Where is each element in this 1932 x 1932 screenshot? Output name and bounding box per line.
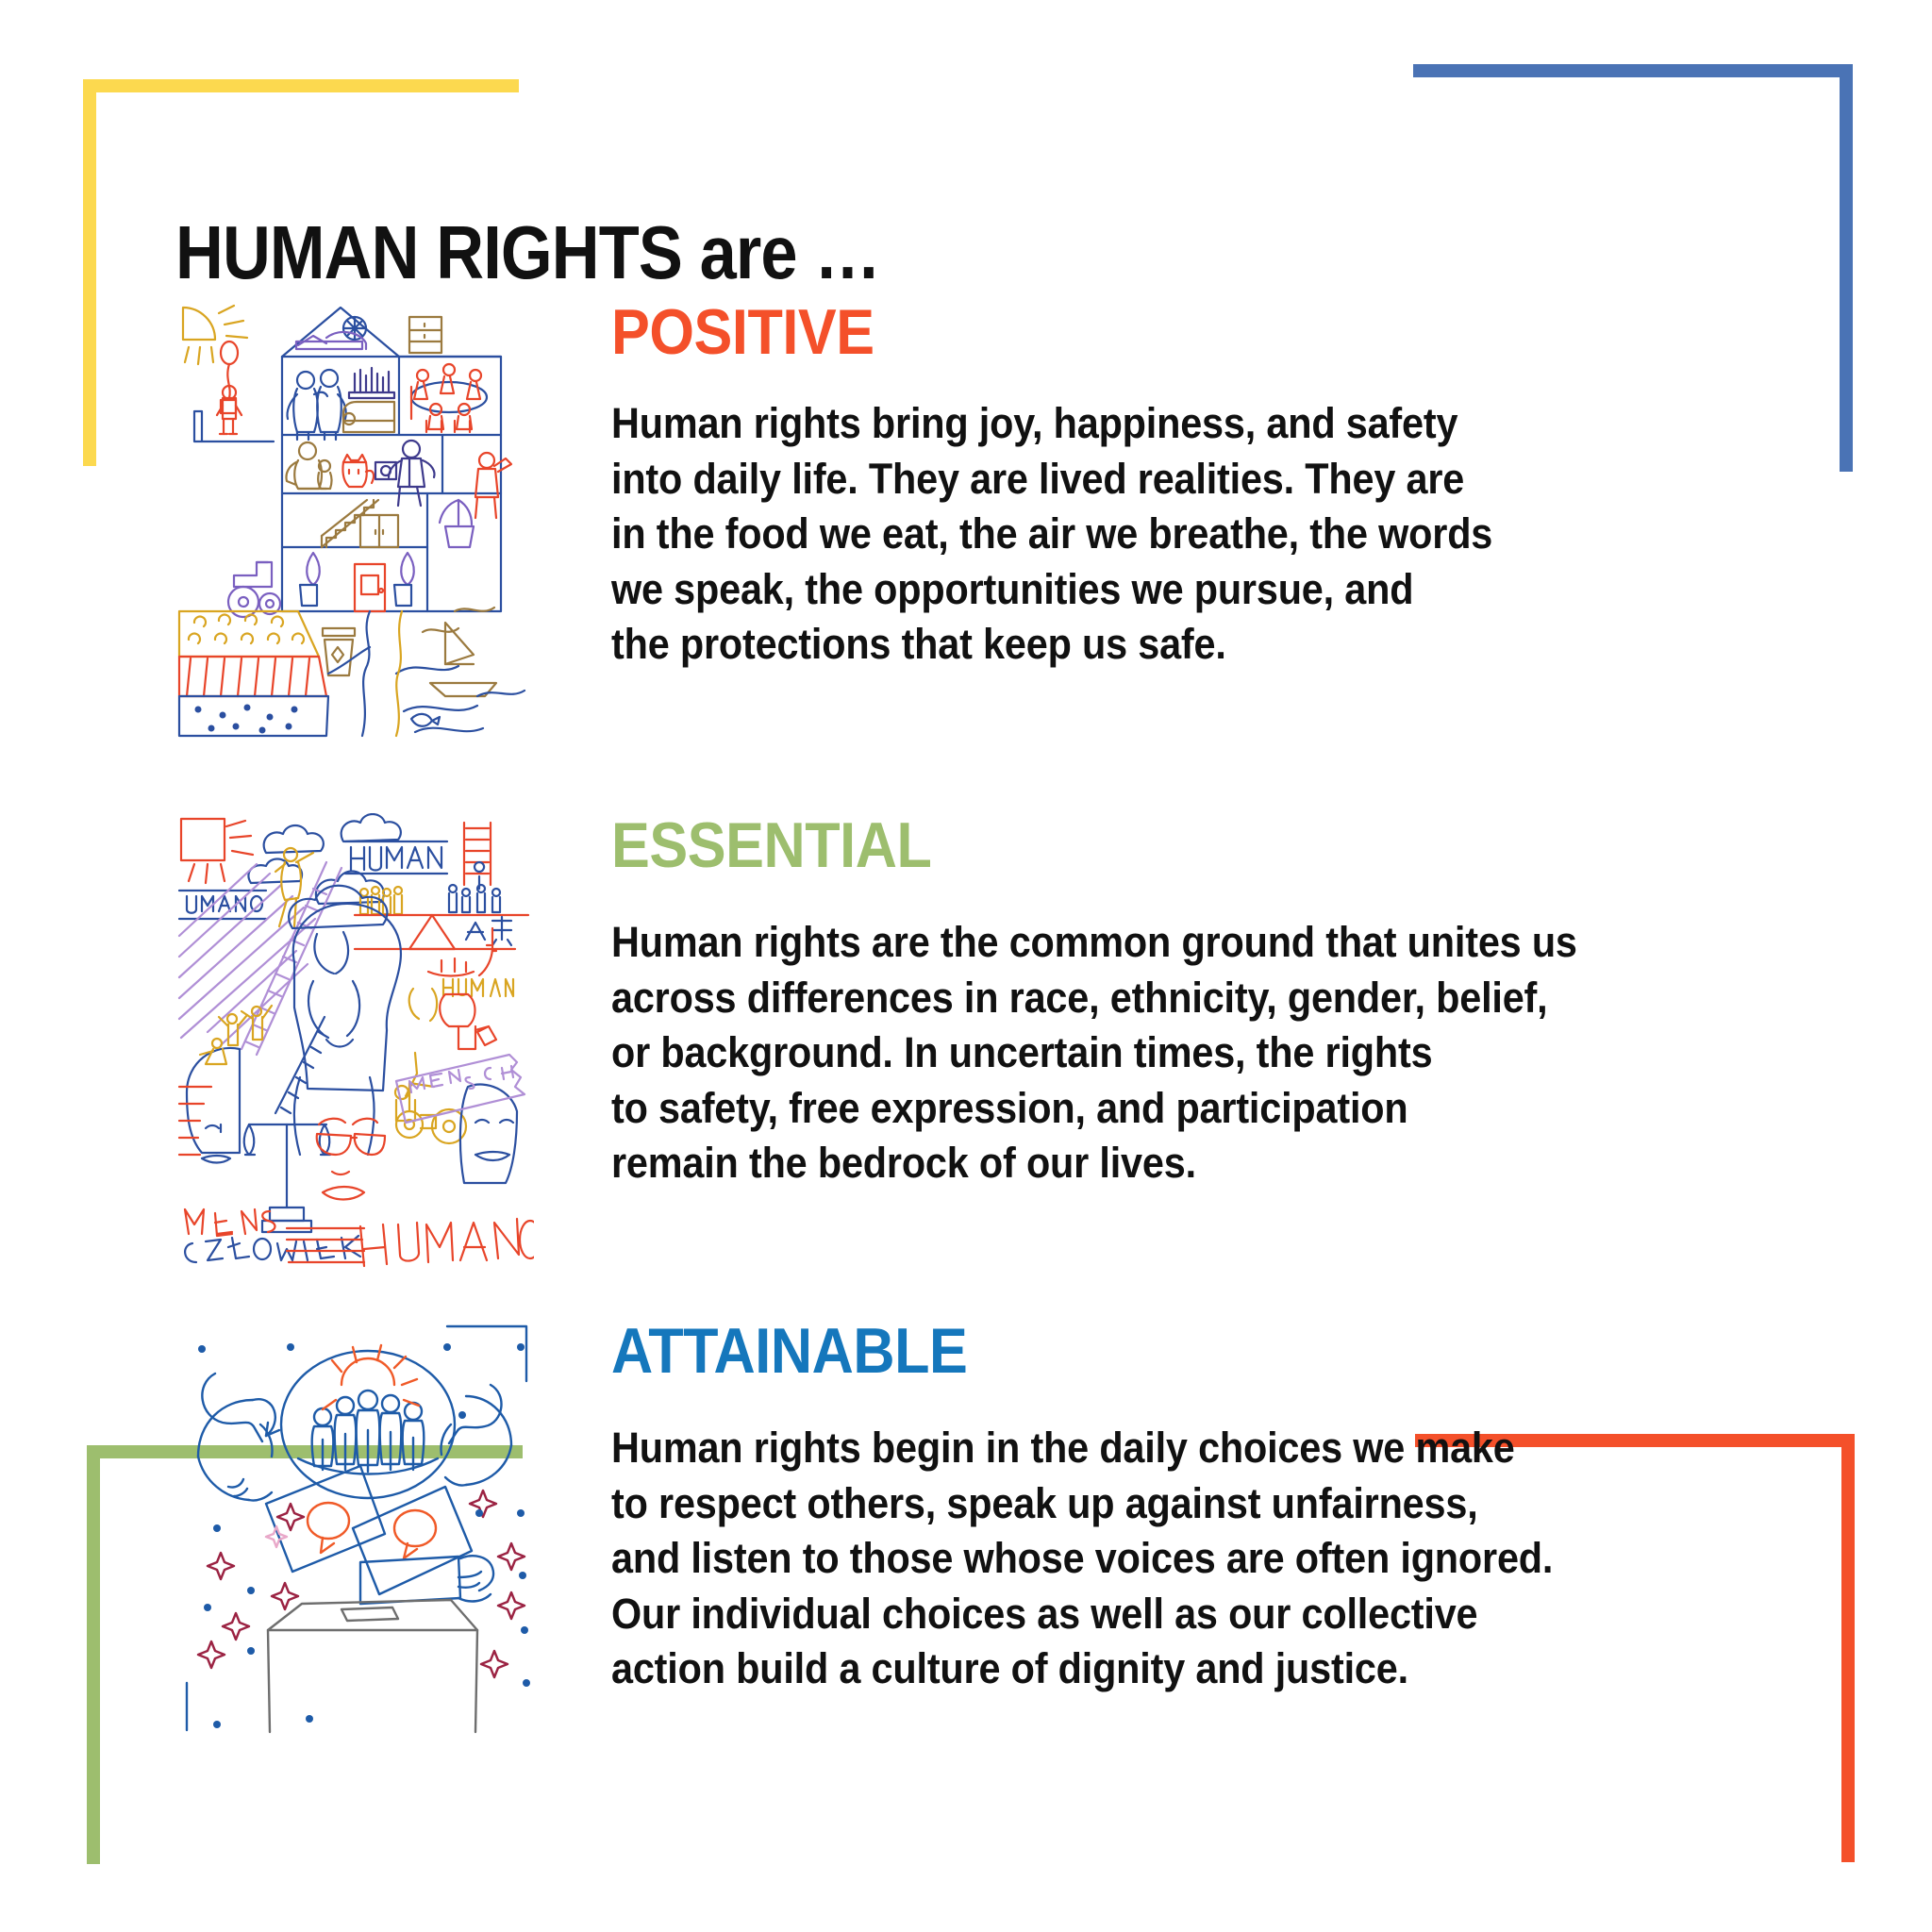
word-humain [464,823,491,885]
word-arabic [428,928,496,976]
ballot-box [268,1600,477,1732]
positive-text-column: POSITIVE Human rights bring joy, happine… [611,300,1790,673]
speech-bubble-right [394,1510,436,1558]
word-chinese [466,917,511,945]
globe-with-crowd [281,1351,455,1498]
sofa [343,402,394,432]
bookshelf [349,368,394,398]
section-body-essential: Human rights are the common ground that … [611,915,1696,1191]
essential-text-column: ESSENTIAL Human rights are the common gr… [611,813,1790,1191]
ballot-box-illustration [175,1319,534,1734]
figure-with-cup [440,994,496,1049]
section-heading-attainable: ATTAINABLE [611,1319,1673,1383]
page-title: HUMAN RIGHTS are … [175,209,880,296]
section-body-positive: Human rights bring joy, happiness, and s… [611,396,1696,673]
section-heading-essential: ESSENTIAL [611,813,1673,877]
celebrating-figures [200,1006,272,1064]
front-door [355,564,385,611]
bracket-arm-horizontal [1413,64,1853,77]
cat-icon [342,455,374,487]
hand-left [198,1374,273,1501]
child-with-balloon [217,341,241,434]
elderly-with-child [286,442,331,489]
hand-inserting [458,1556,493,1601]
word-humano-big [360,1219,534,1266]
couple-figures [287,370,345,440]
meeting-table-group [411,364,487,432]
bracket-arm-vertical [1841,1447,1855,1862]
person-with-briefcase [375,441,435,506]
face-right [460,1085,517,1183]
word-human [345,841,447,874]
bracket-arm-vertical [83,79,96,466]
seed-field [179,696,328,736]
crop-field [179,611,319,657]
speech-bubble-left [308,1503,349,1553]
staircase [322,500,378,547]
tractor-icon [228,562,280,617]
house-outline [282,308,501,611]
sailboat-icon [423,608,496,696]
water-waves [396,666,525,732]
sparkle-icon-pink [266,1526,287,1547]
plowed-field [179,657,326,696]
face-left [187,1048,240,1163]
hand-right [441,1385,511,1486]
section-heading-positive: POSITIVE [611,300,1673,364]
crowd-figures-right [449,862,500,912]
human-word-collage-illustration [175,813,534,1271]
person-with-megaphone [475,453,511,518]
bracket-arm-vertical [1840,64,1853,472]
attainable-text-column: ATTAINABLE Human rights begin in the dai… [611,1319,1790,1697]
house-cutaway-illustration [175,300,534,743]
bracket-arm-horizontal [83,79,519,92]
sun-icon [181,819,253,883]
section-body-attainable: Human rights begin in the daily choices … [611,1421,1696,1697]
plant-icon [440,500,474,547]
bracket-arm-vertical [87,1458,100,1864]
fish-icon [411,714,440,726]
